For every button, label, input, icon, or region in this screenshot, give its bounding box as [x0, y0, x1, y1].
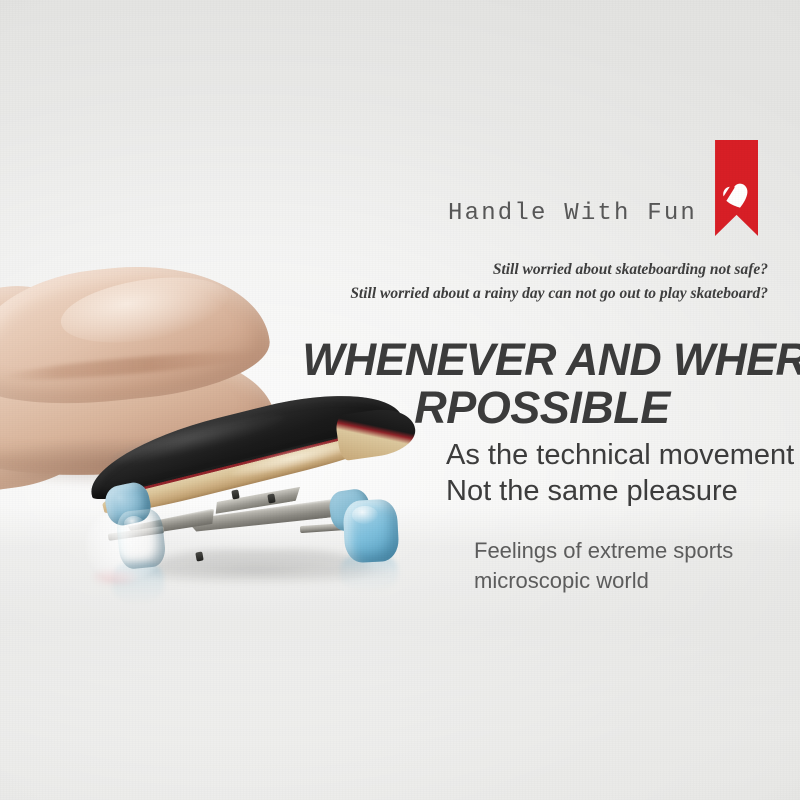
brand-row: Handle With Fun [448, 192, 758, 236]
lower-text-block: Feelings of extreme sports microscopic w… [474, 536, 733, 596]
middle-line-2: Not the same pleasure [446, 473, 794, 509]
ribbon-bookmark-icon [715, 140, 758, 236]
headline-line-1: WHENEVER AND WHEREVE [302, 336, 781, 384]
mounting-bolt [195, 551, 203, 561]
front-near-wheel [342, 499, 399, 564]
fingerboard-photo [0, 262, 430, 602]
heart-icon [722, 183, 751, 210]
mounting-bolt [231, 489, 239, 499]
rear-near-wheel [115, 508, 167, 570]
middle-line-1: As the technical movement [446, 437, 794, 473]
lower-line-2: microscopic world [474, 566, 733, 596]
product-banner: Handle With Fun Still worried about skat… [0, 0, 800, 800]
brand-title: Handle With Fun [448, 202, 697, 226]
lower-line-1: Feelings of extreme sports [474, 536, 733, 566]
mounting-bolt [267, 493, 275, 503]
middle-text-block: As the technical movement Not the same p… [446, 437, 794, 509]
